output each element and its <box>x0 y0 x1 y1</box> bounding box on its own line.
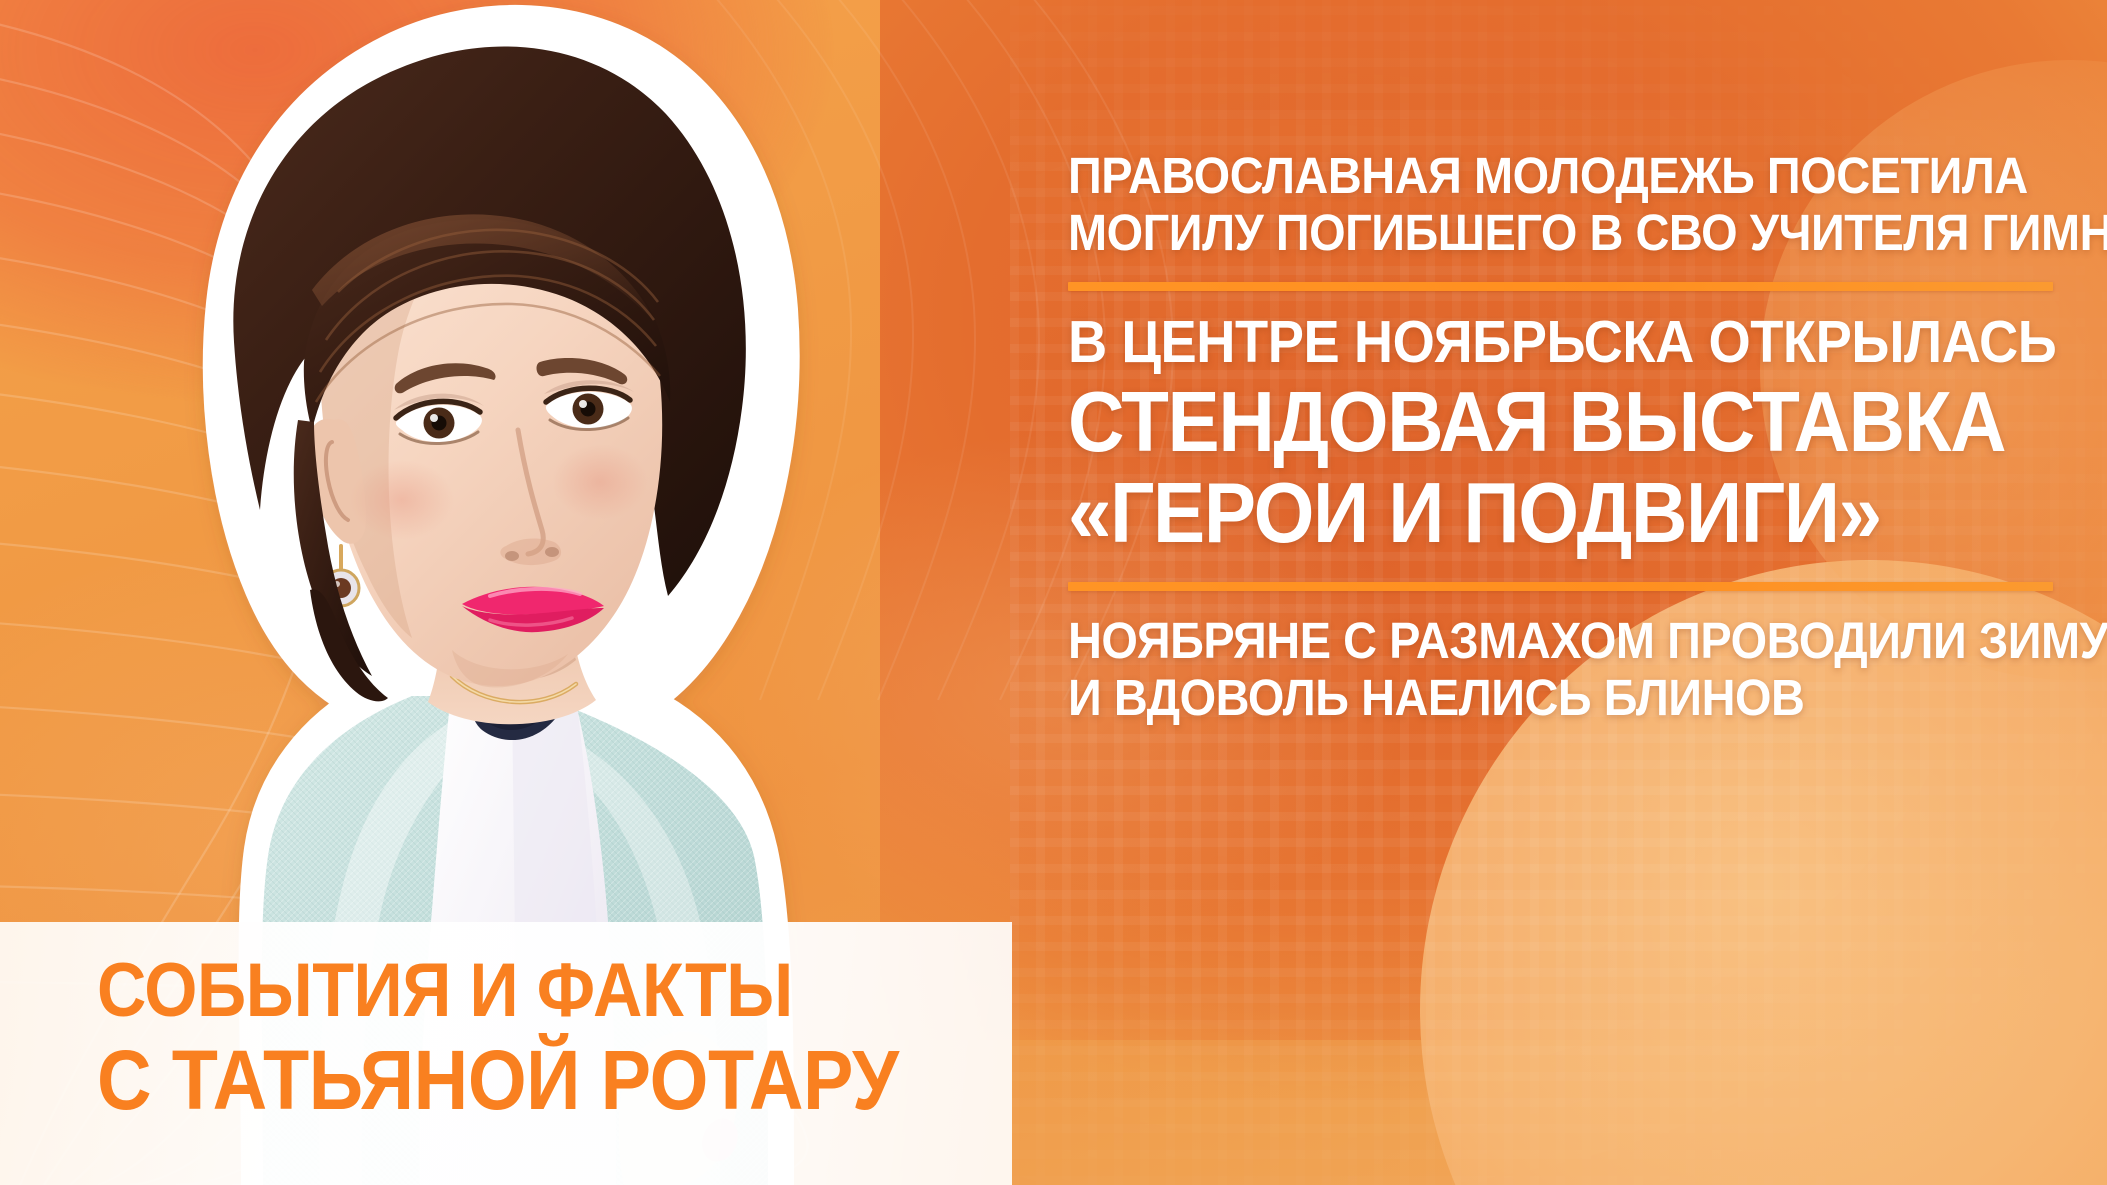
news-item-main: В ЦЕНТРЕ НОЯБРЬСКА ОТКРЫЛАСЬ СТЕНДОВАЯ В… <box>1068 313 2053 556</box>
news-headline-column: ПРАВОСЛАВНАЯ МОЛОДЕЖЬ ПОСЕТИЛА МОГИЛУ ПО… <box>1068 150 2053 723</box>
program-title-line-1: СОБЫТИЯ И ФАКТЫ <box>97 952 907 1030</box>
program-title-text: СОБЫТИЯ И ФАКТЫ С ТАТЬЯНОЙ РОТАРУ <box>97 952 997 1123</box>
news-item-main-kicker: В ЦЕНТРЕ НОЯБРЬСКА ОТКРЫЛАСЬ <box>1068 313 1974 372</box>
news-divider-upper <box>1068 282 2053 291</box>
broadcast-lower-third-graphic: ПРАВОСЛАВНАЯ МОЛОДЕЖЬ ПОСЕТИЛА МОГИЛУ ПО… <box>0 0 2107 1185</box>
news-item-main-headline-line-2: «ГЕРОИ И ПОДВИГИ» <box>1068 471 1974 556</box>
news-item-main-headline-line-1: СТЕНДОВАЯ ВЫСТАВКА <box>1068 380 1974 465</box>
news-item-top-line-2: МОГИЛУ ПОГИБШЕГО В СВО УЧИТЕЛЯ ГИМНАЗИИ <box>1068 207 1974 258</box>
news-item-bottom: НОЯБРЯНЕ С РАЗМАХОМ ПРОВОДИЛИ ЗИМУ И ВДО… <box>1068 615 2053 723</box>
news-divider-lower <box>1068 582 2053 591</box>
news-item-bottom-line-1: НОЯБРЯНЕ С РАЗМАХОМ ПРОВОДИЛИ ЗИМУ <box>1068 615 1974 666</box>
program-title-line-2: С ТАТЬЯНОЙ РОТАРУ <box>97 1038 907 1124</box>
news-item-top: ПРАВОСЛАВНАЯ МОЛОДЕЖЬ ПОСЕТИЛА МОГИЛУ ПО… <box>1068 150 2053 258</box>
news-item-top-line-1: ПРАВОСЛАВНАЯ МОЛОДЕЖЬ ПОСЕТИЛА <box>1068 150 1974 201</box>
news-item-bottom-line-2: И ВДОВОЛЬ НАЕЛИСЬ БЛИНОВ <box>1068 672 1974 723</box>
